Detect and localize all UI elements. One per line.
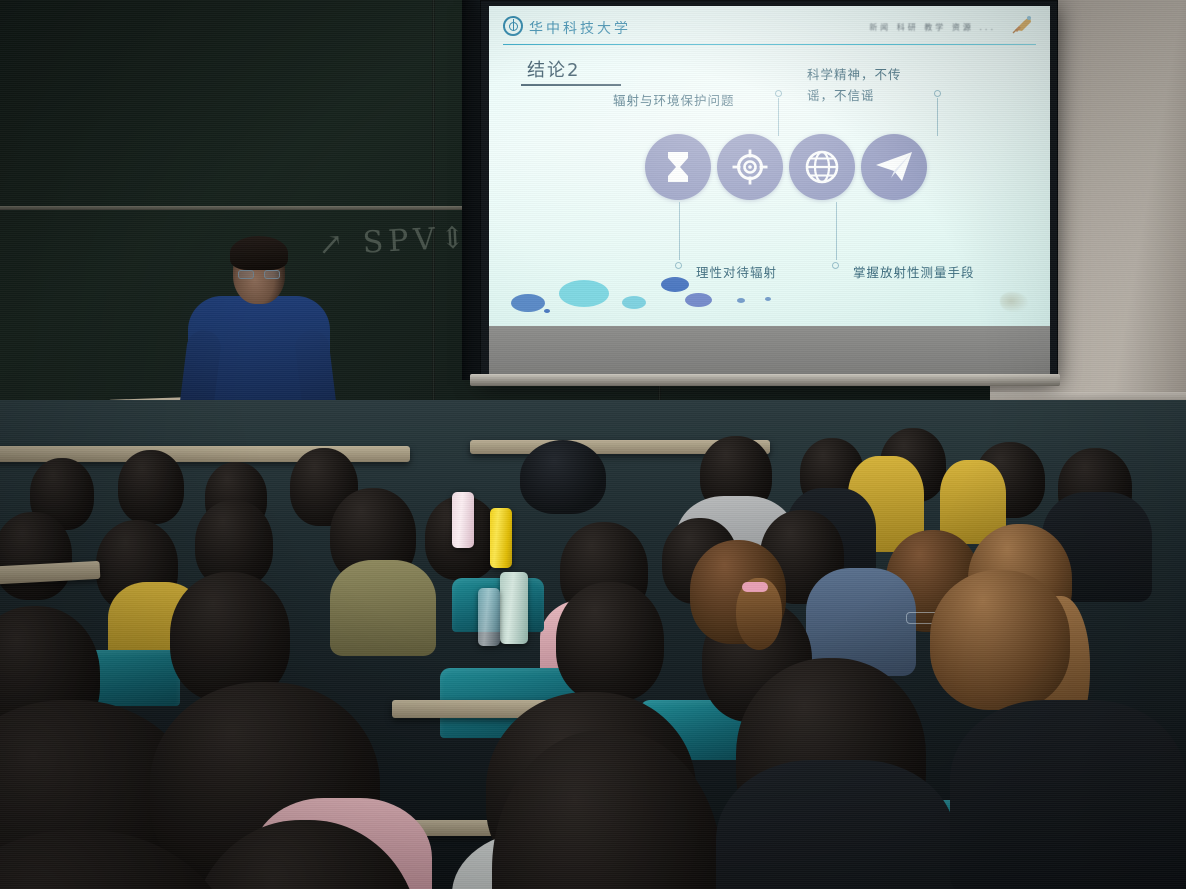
connector-dot xyxy=(934,90,941,97)
decor-bubble xyxy=(544,309,550,313)
globe-icon xyxy=(805,150,839,184)
student-head-with-cap xyxy=(520,440,606,514)
student-body xyxy=(950,700,1186,889)
node-label-2: 科学精神，不传谣，不信谣 xyxy=(807,64,925,106)
node-label-1: 辐射与环境保护问题 xyxy=(613,90,735,109)
connector-dot xyxy=(832,262,839,269)
blackboard-seam xyxy=(432,0,435,410)
globe-icon-circle xyxy=(789,134,855,200)
slide-title: 结论2 xyxy=(527,56,580,82)
university-seal-icon xyxy=(503,16,523,36)
thermos-bottle xyxy=(500,572,528,644)
decor-bubble xyxy=(661,277,689,292)
decor-bubble xyxy=(737,298,745,303)
presentation-slide: 华中科技大学 新闻 科研 教学 资源 ... 结论2 辐射与环境保护问题 科学精… xyxy=(489,6,1050,326)
node-label-4: 掌握放射性测量手段 xyxy=(853,262,975,281)
header-nav-text: 新闻 科研 教学 资源 ... xyxy=(869,22,996,33)
student-body xyxy=(330,560,436,656)
slide-header: 华中科技大学 新闻 科研 教学 资源 ... xyxy=(489,6,1050,46)
thermos-bottle xyxy=(452,492,474,548)
audience-area: N31 xyxy=(0,400,1186,889)
decor-bubble xyxy=(765,297,771,301)
hair-tie xyxy=(742,582,768,592)
connector-line xyxy=(679,202,680,260)
decor-bubble xyxy=(622,296,646,309)
hourglass-icon-circle xyxy=(645,134,711,200)
chalk-writing: ↗ SPV⇕ xyxy=(317,220,471,263)
slide-title-underline xyxy=(521,84,621,86)
crosshair-target-icon-circle xyxy=(717,134,783,200)
student-head xyxy=(556,582,664,702)
classroom-scene: ↗ SPV⇕ 华中科技大学 新闻 科研 教学 资源 ... xyxy=(0,0,1186,889)
hourglass-icon xyxy=(663,150,693,184)
thermos-bottle xyxy=(490,508,512,568)
screen-blank-lower-area xyxy=(489,325,1050,374)
decor-bubble xyxy=(511,294,545,312)
connector-line xyxy=(778,98,779,136)
student-head xyxy=(118,450,184,524)
node-label-3: 理性对待辐射 xyxy=(696,262,777,281)
crosshair-target-icon xyxy=(732,149,768,185)
presenter-hair xyxy=(230,236,288,270)
university-name: 华中科技大学 xyxy=(529,18,631,38)
student-body xyxy=(716,760,956,889)
student-head xyxy=(930,570,1070,710)
glasses-icon xyxy=(238,270,280,279)
student-head xyxy=(0,512,72,600)
connector-dot xyxy=(775,90,782,97)
connector-dot xyxy=(675,262,682,269)
decor-bubble xyxy=(685,293,712,307)
screen-left-shadow xyxy=(462,0,482,380)
paper-plane-icon-circle xyxy=(861,134,927,200)
water-bottle xyxy=(478,588,500,646)
icon-circle-row xyxy=(645,134,927,200)
slide-watermark xyxy=(1000,292,1028,312)
screen-bottom-bar xyxy=(470,374,1060,386)
header-divider xyxy=(503,44,1036,45)
rocket-icon xyxy=(1010,12,1036,36)
decor-bubble xyxy=(559,280,609,307)
connector-line xyxy=(937,98,938,136)
paper-plane-icon xyxy=(875,151,913,183)
connector-line xyxy=(836,202,837,260)
